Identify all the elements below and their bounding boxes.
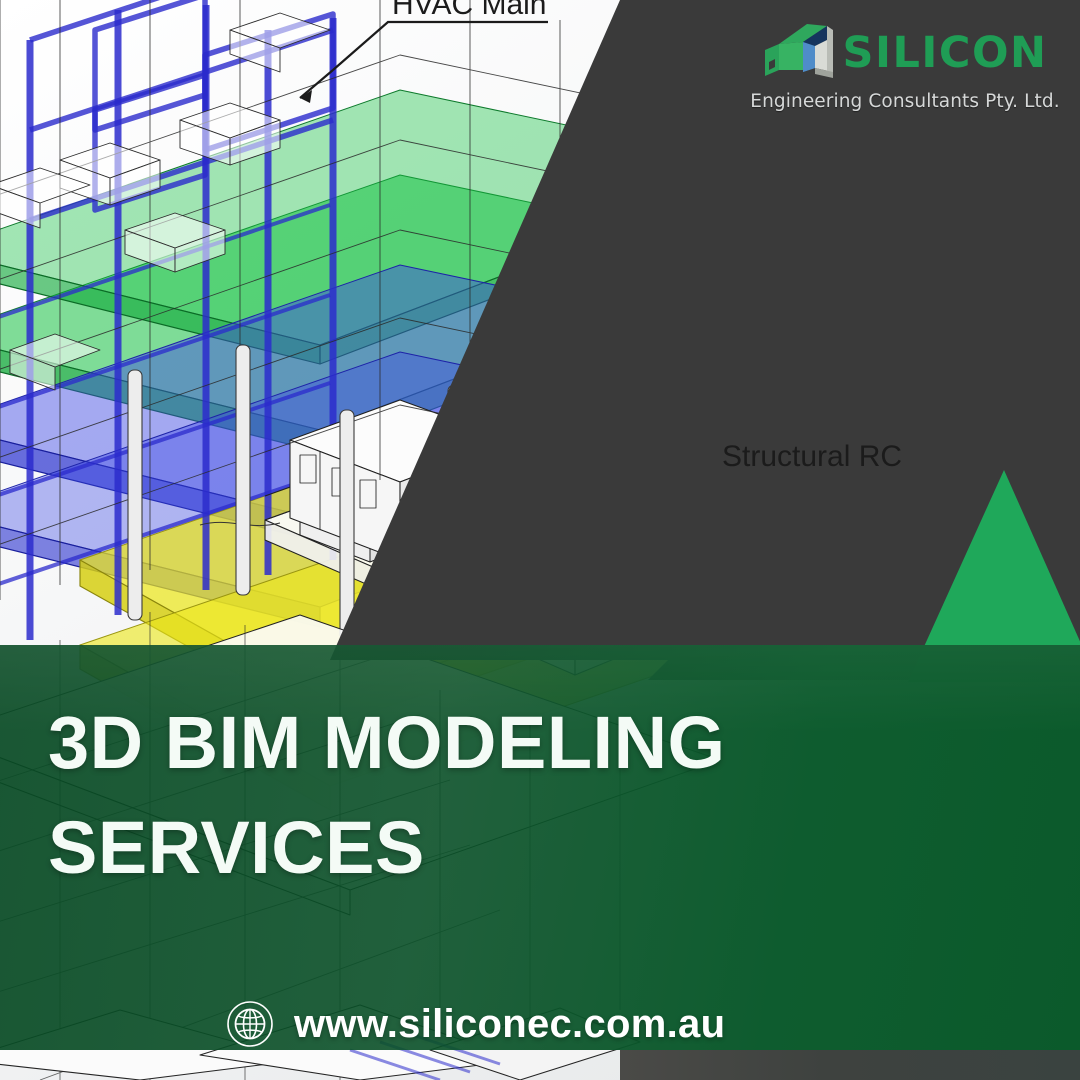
website-url-row[interactable]: www.siliconec.com.au (226, 1000, 725, 1048)
brand-logo: SILICON Engineering Consultants Pty. Ltd… (740, 22, 1070, 112)
headline-line-1: 3D BIM MODELING (48, 690, 948, 795)
callout-label-structural-rc: Structural RC (722, 440, 902, 474)
bottom-strip-dark-area (620, 1050, 1080, 1080)
globe-icon (226, 1000, 274, 1048)
website-url-text[interactable]: www.siliconec.com.au (294, 1002, 725, 1047)
headline-line-2: SERVICES (48, 795, 948, 900)
silicon-3d-building-logo-icon (763, 22, 839, 84)
logo-row: SILICON (740, 22, 1070, 84)
callout-label-hvac-main: HVAC Main (392, 0, 546, 22)
bottom-strip (0, 1050, 1080, 1080)
logo-wordmark: SILICON (843, 32, 1048, 75)
logo-tagline: Engineering Consultants Pty. Ltd. (740, 91, 1070, 112)
poster-canvas: SILICON Engineering Consultants Pty. Ltd… (0, 0, 1080, 1080)
page-title: 3D BIM MODELING SERVICES (48, 690, 948, 900)
